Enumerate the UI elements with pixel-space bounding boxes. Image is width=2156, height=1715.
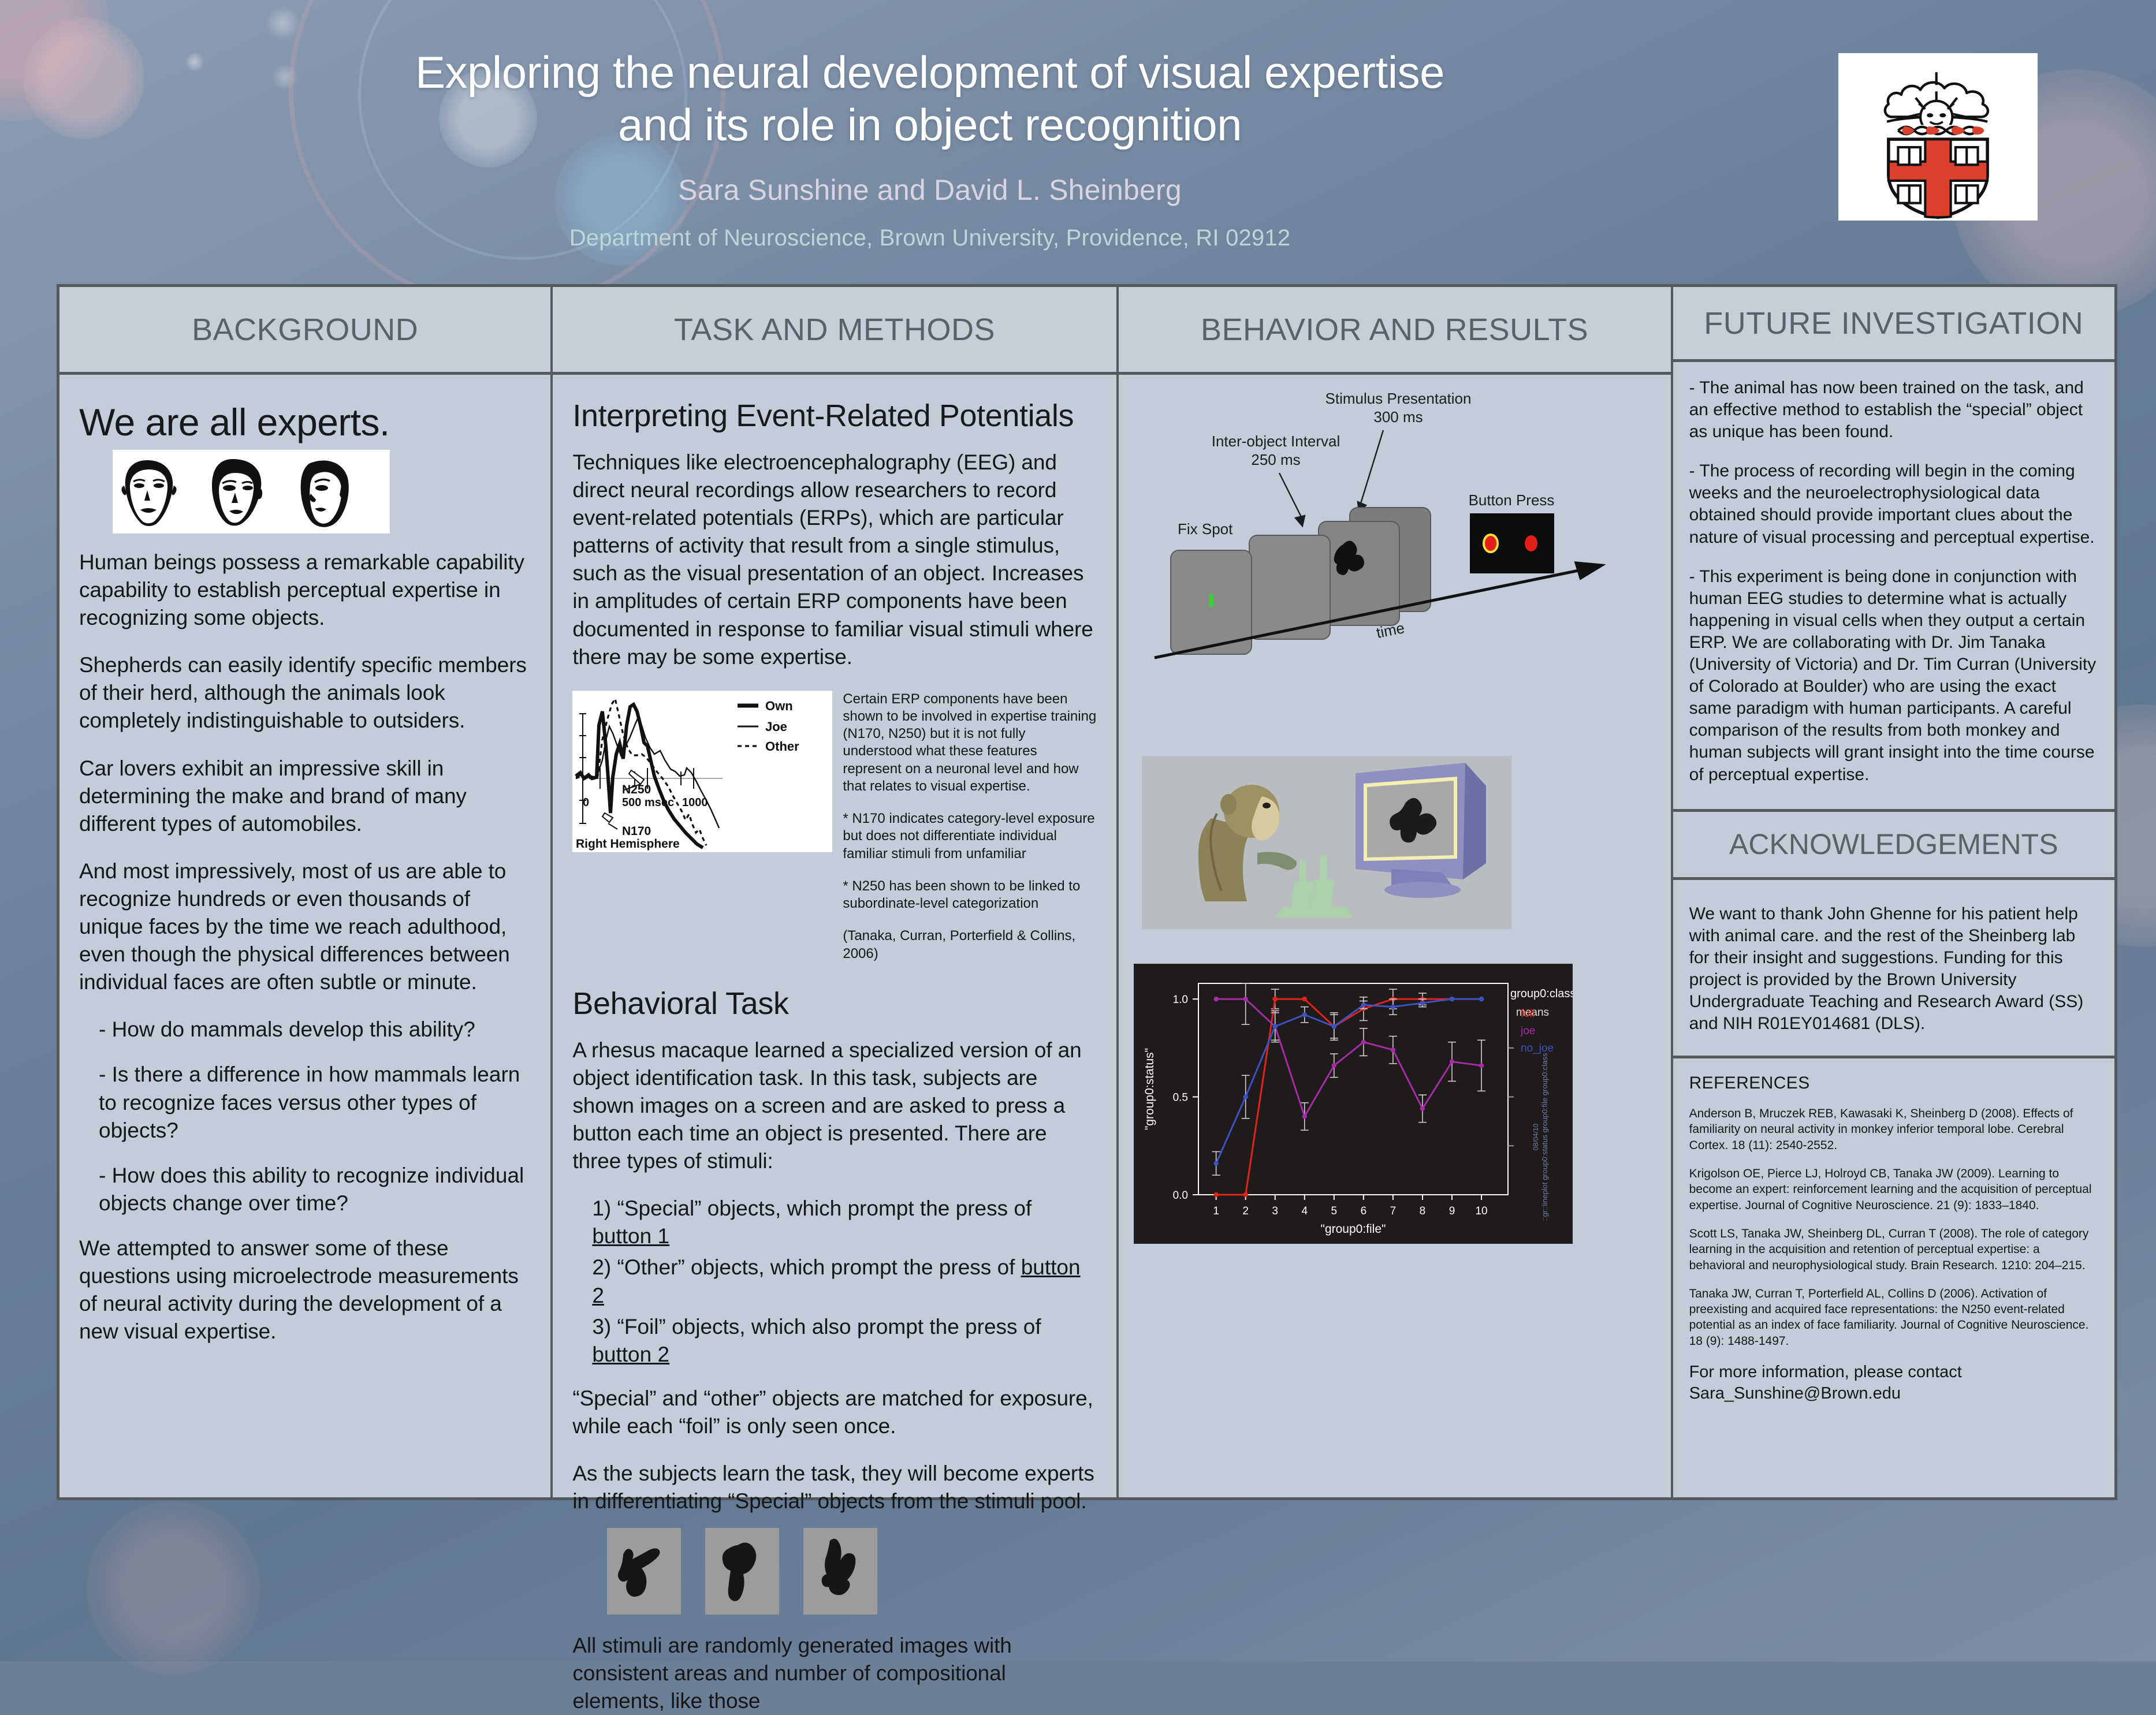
trial-timeline-diagram: Stimulus Presentation 300 ms Inter-objec… — [1130, 383, 1659, 660]
background-paragraph: Shepherds can easily identify specific m… — [79, 651, 531, 735]
section-heading-future: FUTURE INVESTIGATION — [1673, 287, 2114, 362]
reference-item: Scott LS, Tanaka JW, Sheinberg DL, Curra… — [1689, 1226, 2098, 1273]
title-line-1: Exploring the neural development of visu… — [323, 46, 1536, 99]
column-future-investigation: FUTURE INVESTIGATION - The animal has no… — [1673, 287, 2114, 1497]
svg-text:0.0: 0.0 — [1172, 1190, 1187, 1202]
stimuli-caption: All stimuli are randomly generated image… — [572, 1632, 1096, 1715]
references-box: REFERENCES Anderson B, Mruczek REB, Kawa… — [1673, 1058, 2114, 1497]
svg-text:::gr::lineplot group0:status g: ::gr::lineplot group0:status group0:file… — [1540, 1053, 1549, 1221]
stimulus-type-item: 2) “Other” objects, which prompt the pre… — [592, 1254, 1096, 1309]
lineplot-svg: 0.00.51.012345678910"group0:file""group0… — [1134, 964, 1573, 1244]
monkey-monitor-icon — [1142, 756, 1511, 929]
monkey-setup-image — [1142, 756, 1511, 929]
faces-illustration-icon — [113, 450, 390, 534]
reference-item: Krigolson OE, Pierce LJ, Holroyd CB, Tan… — [1689, 1166, 2098, 1213]
author-list: Sara Sunshine and David L. Sheinberg — [323, 173, 1536, 207]
behavioral-task-intro: A rhesus macaque learned a specialized v… — [572, 1037, 1096, 1175]
blob-stimulus-icon — [705, 1528, 779, 1615]
future-bullet: - The process of recording will begin in… — [1689, 460, 2098, 548]
poster-body: BACKGROUND We are all experts. — [57, 284, 2117, 1500]
erp-citation: (Tanaka, Curran, Porterfield & Collins, … — [843, 927, 1096, 962]
section-heading-methods: TASK AND METHODS — [553, 287, 1116, 375]
behavioral-task-subheading: Behavioral Task — [572, 986, 1096, 1021]
reference-item: Tanaka JW, Curran T, Porterfield AL, Col… — [1689, 1286, 2098, 1349]
research-question: - How do mammals develop this ability? — [99, 1016, 531, 1043]
research-question: - Is there a difference in how mammals l… — [99, 1061, 531, 1144]
affiliation: Department of Neuroscience, Brown Univer… — [323, 225, 1536, 251]
stimulus-text: “Other” objects, which prompt the press … — [617, 1255, 1021, 1279]
section-heading-background: BACKGROUND — [59, 287, 550, 375]
svg-text:300 ms: 300 ms — [1373, 408, 1423, 426]
background-paragraph: And most impressively, most of us are ab… — [79, 857, 531, 996]
svg-text:0.5: 0.5 — [1172, 1092, 1187, 1104]
button-press-panel — [1470, 513, 1554, 573]
erp-plot-icon: Own Joe Other N250 N170 0 500 msec 1000 … — [572, 691, 832, 852]
button-press-label: Button Press — [1468, 491, 1554, 509]
background-title: We are all experts. — [79, 400, 531, 444]
svg-text:10: 10 — [1475, 1205, 1487, 1217]
stimulus-number: 1) — [592, 1196, 611, 1220]
erp-note-n170: * N170 indicates category-level exposure… — [843, 810, 1096, 863]
fix-spot-label: Fix Spot — [1178, 520, 1233, 538]
svg-text:joe: joe — [1520, 1025, 1535, 1037]
column-behavior-and-results: BEHAVIOR AND RESULTS Stimulus Presentati… — [1119, 287, 1673, 1497]
svg-text:Joe: Joe — [765, 719, 787, 734]
button-1-icon — [1484, 535, 1498, 552]
stimuli-thumbnails — [607, 1528, 1096, 1615]
stimulus-thumbnail — [607, 1528, 681, 1615]
reference-item: Anderson B, Mruczek REB, Kawasaki K, She… — [1689, 1106, 2098, 1153]
stimulus-number: 2) — [592, 1255, 611, 1279]
section-heading-acknowledgements: ACKNOWLEDGEMENTS — [1673, 812, 2114, 880]
svg-text:3: 3 — [1272, 1205, 1278, 1217]
background-closing: We attempted to answer some of these que… — [79, 1235, 531, 1345]
inter-object-interval-label: Inter-object Interval — [1211, 433, 1340, 450]
erp-intro-paragraph: Techniques like electroencephalography (… — [572, 449, 1096, 671]
svg-text:500 msec: 500 msec — [622, 796, 674, 809]
acknowledgements-text: We want to thank John Ghenne for his pat… — [1689, 903, 2098, 1035]
background-paragraph: Car lovers exhibit an impressive skill i… — [79, 755, 531, 838]
fixation-spot-icon — [1209, 594, 1213, 607]
svg-text:4: 4 — [1301, 1205, 1308, 1217]
page-title: Exploring the neural development of visu… — [323, 46, 1536, 152]
erp-note: Certain ERP components have been shown t… — [843, 691, 1096, 795]
section-heading-references: REFERENCES — [1689, 1073, 2098, 1093]
section-heading-results: BEHAVIOR AND RESULTS — [1119, 287, 1671, 375]
stimulus-number: 3) — [592, 1315, 611, 1339]
stimulus-thumbnail — [803, 1528, 877, 1615]
stimulus-text: “Special” objects, which prompt the pres… — [617, 1196, 1032, 1220]
three-faces-image — [113, 450, 390, 534]
stimulus-type-item: 3) “Foil” objects, which also prompt the… — [592, 1313, 1096, 1369]
svg-text:1: 1 — [1213, 1205, 1219, 1217]
svg-text:0: 0 — [583, 796, 589, 809]
svg-text:08/04/10: 08/04/10 — [1532, 1123, 1540, 1150]
svg-text:6: 6 — [1360, 1205, 1366, 1217]
blob-stimulus-icon — [607, 1528, 681, 1615]
column-task-and-methods: TASK AND METHODS Interpreting Event-Rela… — [553, 287, 1118, 1497]
svg-text:7: 7 — [1390, 1205, 1396, 1217]
background-paragraph: Human beings possess a remarkable capabi… — [79, 549, 531, 632]
svg-text:1000: 1000 — [682, 796, 708, 809]
stimulus-thumbnail — [705, 1528, 779, 1615]
poster-header: Exploring the neural development of visu… — [0, 0, 2156, 271]
results-lineplot: 0.00.51.012345678910"group0:file""group0… — [1134, 964, 1573, 1244]
matched-exposure-note: “Special” and “other” objects are matche… — [572, 1385, 1096, 1440]
button-label: button 1 — [592, 1224, 669, 1248]
svg-text:Other: Other — [765, 739, 799, 754]
button-2-icon — [1525, 535, 1537, 551]
stimulus-presentation-label: Stimulus Presentation — [1325, 390, 1471, 407]
erp-figure-block: Own Joe Other N250 N170 0 500 msec 1000 … — [572, 691, 1096, 978]
button-label: button 2 — [592, 1343, 669, 1366]
erp-subheading: Interpreting Event-Related Potentials — [572, 398, 1096, 434]
svg-text:no_joe: no_joe — [1521, 1042, 1554, 1054]
brown-crest-icon — [1838, 53, 2038, 221]
acknowledgements-box: ACKNOWLEDGEMENTS We want to thank John G… — [1673, 812, 2114, 1059]
svg-text:foil: foil — [1521, 1008, 1535, 1020]
future-bullet: - The animal has now been trained on the… — [1689, 377, 2098, 443]
blob-stimulus-icon — [803, 1528, 877, 1615]
trial-sequence-icon: Stimulus Presentation 300 ms Inter-objec… — [1130, 383, 1659, 672]
stimulus-type-item: 1) “Special” objects, which prompt the p… — [592, 1195, 1096, 1250]
svg-text:8: 8 — [1419, 1205, 1425, 1217]
brown-university-logo — [1838, 53, 2038, 221]
svg-text:2: 2 — [1242, 1205, 1249, 1217]
svg-text:Own: Own — [765, 699, 793, 713]
title-line-2: and its role in object recognition — [323, 99, 1536, 151]
svg-text:"group0:status": "group0:status" — [1143, 1048, 1156, 1130]
svg-text:1.0: 1.0 — [1172, 994, 1187, 1006]
erp-waveform-figure: Own Joe Other N250 N170 0 500 msec 1000 … — [572, 691, 832, 852]
svg-text:group0:class: group0:class — [1510, 987, 1573, 1000]
stimulus-text: “Foil” objects, which also prompt the pr… — [617, 1315, 1041, 1339]
svg-text:5: 5 — [1331, 1205, 1337, 1217]
svg-text:N170: N170 — [622, 825, 651, 838]
column-background: BACKGROUND We are all experts. — [59, 287, 553, 1497]
svg-text:Right Hemisphere: Right Hemisphere — [576, 837, 680, 851]
research-question: - How does this ability to recognize ind… — [99, 1162, 531, 1217]
expertise-note: As the subjects learn the task, they wil… — [572, 1460, 1096, 1515]
svg-text:250 ms: 250 ms — [1251, 451, 1300, 468]
svg-text:"group0:file": "group0:file" — [1320, 1222, 1386, 1236]
future-investigation-box: FUTURE INVESTIGATION - The animal has no… — [1673, 287, 2114, 812]
contact-info: For more information, please contact Sar… — [1689, 1362, 2098, 1404]
future-bullet: - This experiment is being done in conju… — [1689, 566, 2098, 786]
svg-text:9: 9 — [1448, 1205, 1455, 1217]
erp-note-n250: * N250 has been shown to be linked to su… — [843, 878, 1096, 912]
